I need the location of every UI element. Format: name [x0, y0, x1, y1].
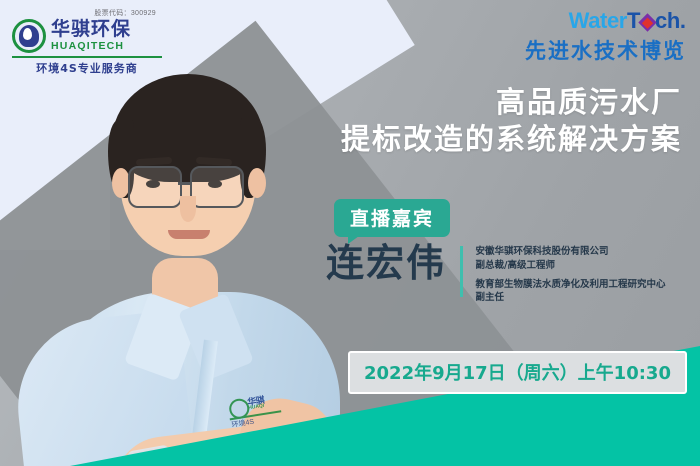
schedule-datetime: 2022年9月17日（周六）上午10:30 — [364, 363, 671, 384]
stock-code-label: 股票代码：300929 — [12, 8, 162, 18]
speaker-divider — [460, 246, 463, 297]
brand-water-text: Water — [569, 10, 627, 32]
speaker-role-2: 副主任 — [476, 291, 666, 305]
page-title: 高品质污水厂 提标改造的系统解决方案 — [341, 84, 682, 158]
schedule-box: 2022年9月17日（周六）上午10:30 — [348, 351, 687, 394]
speaker-affiliation-2: 教育部生物膜法水质净化及利用工程研究中心 — [476, 278, 666, 292]
title-line-2: 提标改造的系统解决方案 — [341, 121, 682, 158]
guest-badge: 直播嘉宾 — [334, 199, 450, 237]
portrait-glasses-bridge — [178, 182, 190, 185]
speaker-block: 连宏伟 安徽华骐环保科技股份有限公司 副总裁/高级工程师 教育部生物膜法水质净化… — [326, 242, 666, 305]
shirt-logo-name-en: HUAQI — [248, 403, 265, 411]
portrait-mouth — [168, 230, 210, 239]
diamond-e-icon — [638, 13, 656, 31]
brand-ch-text: ch — [655, 10, 680, 32]
speaker-name: 连宏伟 — [326, 242, 460, 305]
webinar-poster: 华骐 HUAQI 环境4S 股票代码：300929 华骐环保 HUAQITECH… — [0, 0, 700, 466]
speaker-affiliation-1: 安徽华骐环保科技股份有限公司 — [476, 245, 666, 259]
portrait-nose — [180, 196, 196, 222]
brand-name-cn: 先进水技术博览 — [525, 35, 686, 65]
speaker-role-1: 副总裁/高级工程师 — [476, 259, 666, 273]
speaker-credentials: 安徽华骐环保科技股份有限公司 副总裁/高级工程师 教育部生物膜法水质净化及利用工… — [476, 242, 666, 305]
event-brand: WaterTch. 先进水技术博览 — [525, 10, 686, 65]
corporate-logo: 股票代码：300929 华骐环保 HUAQITECH 环境4S专业服务商 — [12, 8, 162, 76]
portrait-glasses-right-lens — [190, 166, 244, 208]
corporate-name-cn: 华骐环保 — [51, 20, 131, 39]
portrait-ear-right — [248, 168, 266, 198]
shirt-logo-slogan: 环境4S — [231, 417, 255, 430]
portrait-glasses-left-lens — [128, 166, 182, 208]
water-drop-circle-icon — [12, 19, 46, 53]
corporate-logo-divider — [12, 56, 162, 58]
corporate-slogan: 环境4S专业服务商 — [12, 60, 162, 76]
title-line-1: 高品质污水厂 — [341, 84, 682, 121]
brand-dot: . — [680, 10, 686, 32]
corporate-name-en: HUAQITECH — [51, 41, 131, 52]
